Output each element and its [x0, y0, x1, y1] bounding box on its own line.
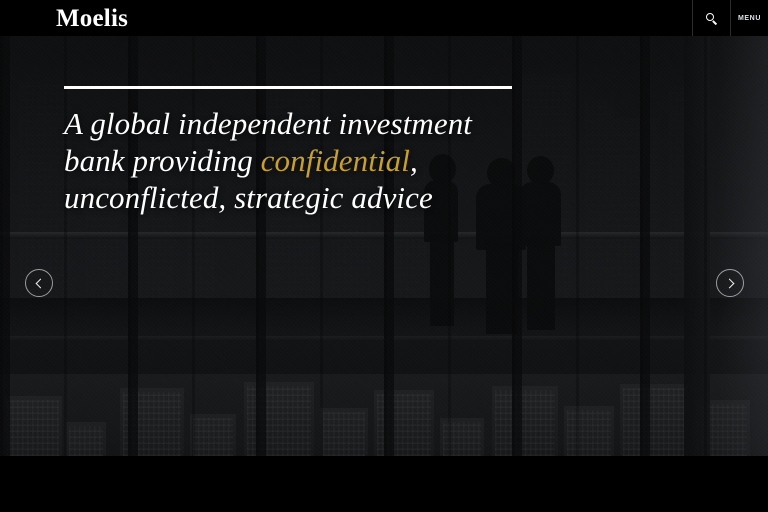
header-actions: MENU	[692, 0, 768, 36]
hero-headline: A global independent investment bank pro…	[64, 105, 534, 216]
page-root: Moelis MENU	[0, 0, 768, 512]
brand-logo[interactable]: Moelis	[56, 6, 128, 31]
search-icon	[706, 13, 717, 24]
carousel-next-button[interactable]	[716, 269, 744, 297]
site-footer: © Copyright 2025 Moelis & Company. All r…	[0, 456, 768, 512]
site-header: Moelis MENU	[0, 0, 768, 36]
chevron-right-icon	[724, 278, 734, 288]
hero-carousel: A global independent investment bank pro…	[0, 36, 768, 456]
search-button[interactable]	[692, 0, 730, 36]
menu-label: MENU	[738, 15, 761, 22]
hero-copy: A global independent investment bank pro…	[64, 86, 534, 216]
menu-button[interactable]: MENU	[730, 0, 768, 36]
headline-highlight: confidential	[261, 143, 410, 178]
carousel-prev-button[interactable]	[25, 269, 53, 297]
chevron-left-icon	[35, 278, 45, 288]
hero-rule	[64, 86, 512, 89]
